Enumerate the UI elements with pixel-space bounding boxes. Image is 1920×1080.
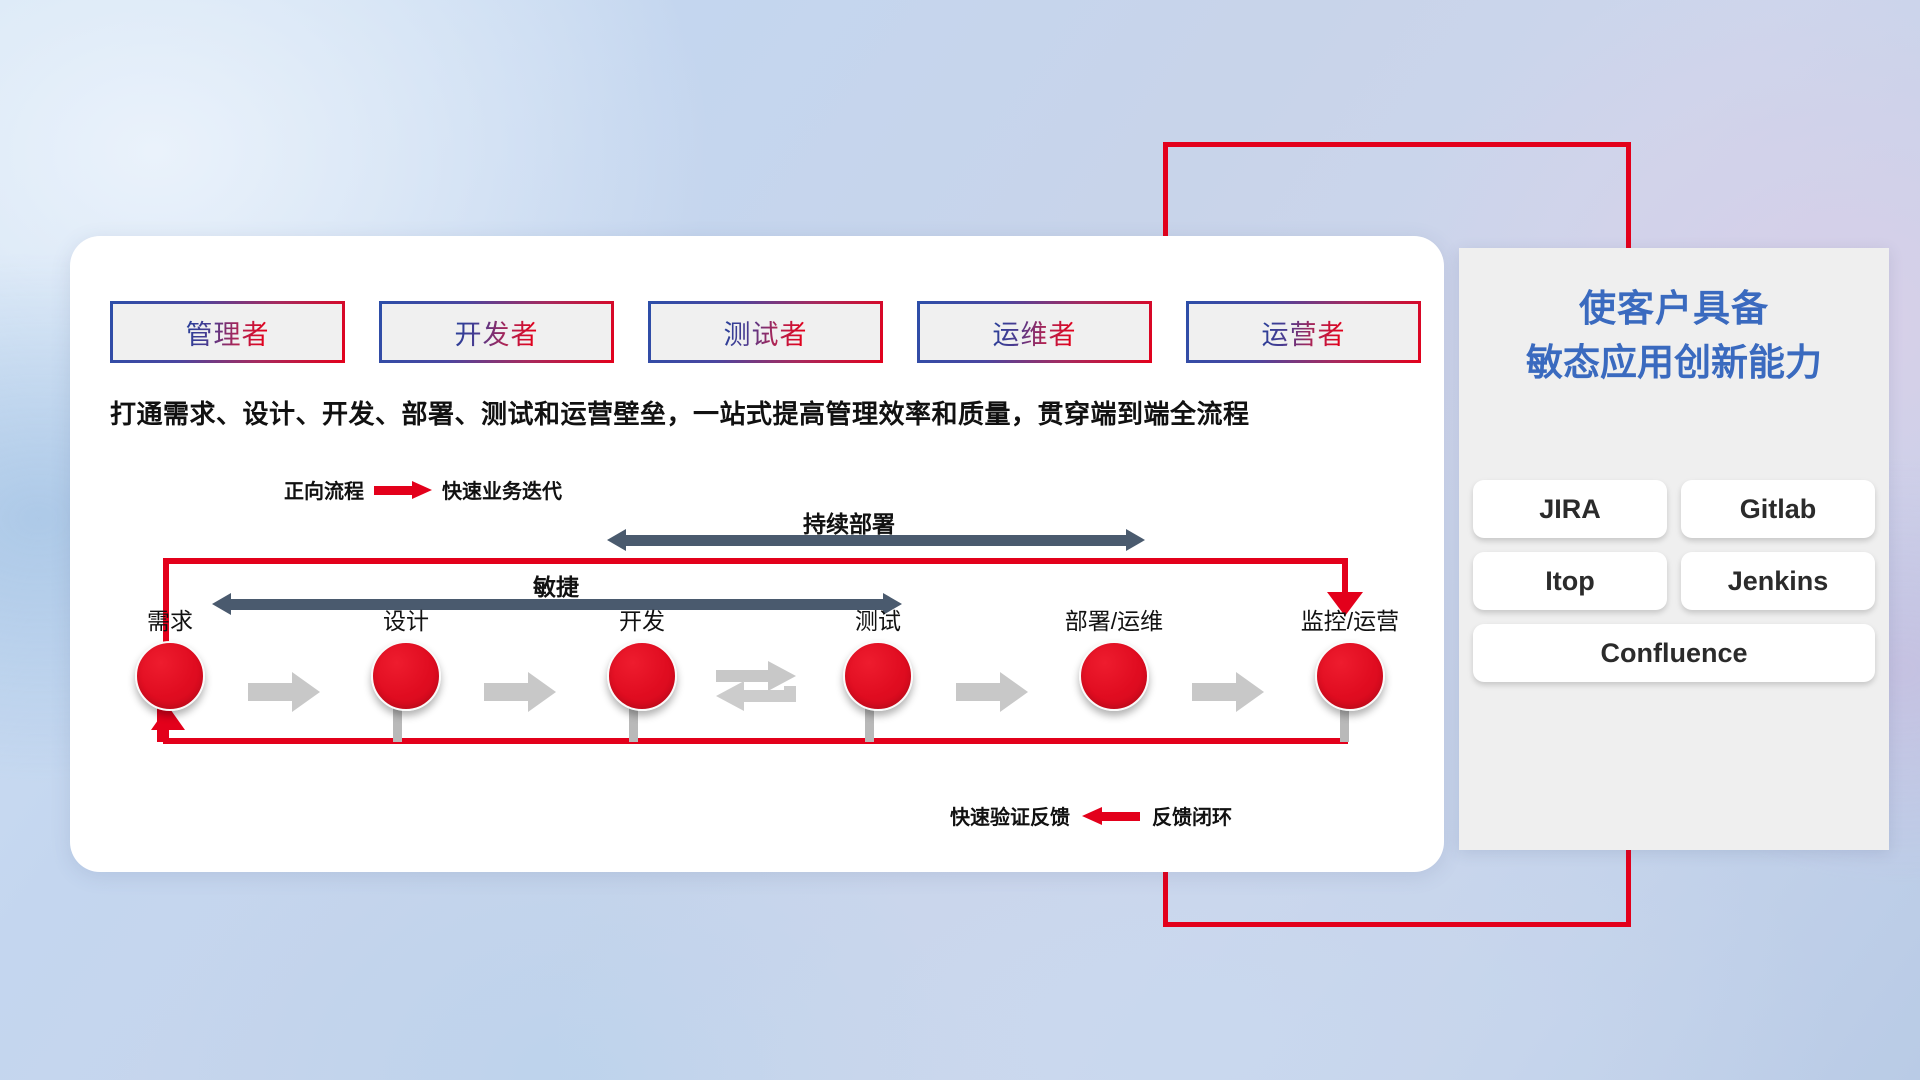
tool-badge-list: JIRA Gitlab Itop Jenkins Confluence [1473,480,1875,682]
flow-arrow-3-icon [956,672,1028,712]
legend-forward-target-label: 快速业务迭代 [442,475,562,504]
cycle-path-top [163,558,1348,564]
stage-label: 测试 [818,610,938,633]
right-panel-title-line1: 使客户具备 [1459,282,1889,336]
stage-deploy-ops[interactable]: 部署/运维 [1054,610,1174,711]
stage-monitor-operations[interactable]: 监控/运营 [1290,610,1410,711]
flow-arrow-2-icon [484,672,556,712]
legend-forward-source-label: 正向流程 [284,475,364,504]
tool-badge-jira[interactable]: JIRA [1473,480,1667,538]
tool-badge-jenkins[interactable]: Jenkins [1681,552,1875,610]
tool-badge-itop[interactable]: Itop [1473,552,1667,610]
loop-back-arrow-icon [710,656,802,718]
stage-testing[interactable]: 测试 [818,610,938,711]
role-box-row: 管理者 开发者 测试者 运维者 运营者 [110,301,1421,363]
legend-feedback-source-label: 快速验证反馈 [950,801,1070,830]
arrow-right-red-icon [374,481,432,499]
role-label: 运营者 [1262,313,1346,352]
stage-requirement[interactable]: 需求 [110,610,230,711]
stage-dot-icon [1315,641,1385,711]
stage-label: 需求 [110,610,230,633]
stage-design[interactable]: 设计 [346,610,466,711]
role-box-manager[interactable]: 管理者 [110,301,345,363]
stage-label: 设计 [346,610,466,633]
legend-forward-flow: 正向流程 快速业务迭代 [284,475,562,504]
double-arrow-continuous-deployment [607,529,1145,551]
legend-feedback-loop: 快速验证反馈 反馈闭环 [950,801,1232,830]
stage-label: 部署/运维 [1054,610,1174,633]
stage-dot-icon [135,641,205,711]
slide-canvas: 管理者 开发者 测试者 运维者 运营者 打通需求、设计、开发、部署、测试和运营壁… [0,0,1920,1080]
stage-dot-icon [1079,641,1149,711]
role-label: 运维者 [993,313,1077,352]
tool-badge-gitlab[interactable]: Gitlab [1681,480,1875,538]
role-box-tester[interactable]: 测试者 [648,301,883,363]
role-box-developer[interactable]: 开发者 [379,301,614,363]
stage-dot-icon [607,641,677,711]
right-panel-title-line2: 敏态应用创新能力 [1459,336,1889,390]
role-label: 开发者 [455,313,539,352]
stage-label: 监控/运营 [1290,610,1410,633]
arrow-left-red-icon [1082,807,1140,825]
role-label: 测试者 [724,313,808,352]
role-box-operations[interactable]: 运营者 [1186,301,1421,363]
stage-label: 开发 [582,610,702,633]
stage-dot-icon [843,641,913,711]
role-box-ops[interactable]: 运维者 [917,301,1152,363]
flow-arrow-4-icon [1192,672,1264,712]
stage-dot-icon [371,641,441,711]
right-panel: 使客户具备 敏态应用创新能力 JIRA Gitlab Itop Jenkins … [1459,248,1889,850]
stage-row: 需求 设计 开发 测试 部署/运维 监控/运营 [110,610,1420,740]
description-text: 打通需求、设计、开发、部署、测试和运营壁垒，一站式提高管理效率和质量，贯穿端到端… [110,394,1410,431]
legend-feedback-target-label: 反馈闭环 [1152,801,1232,830]
stage-development[interactable]: 开发 [582,610,702,711]
tool-badge-confluence[interactable]: Confluence [1473,624,1875,682]
right-panel-title: 使客户具备 敏态应用创新能力 [1459,282,1889,389]
role-label: 管理者 [186,313,270,352]
flow-arrow-1-icon [248,672,320,712]
